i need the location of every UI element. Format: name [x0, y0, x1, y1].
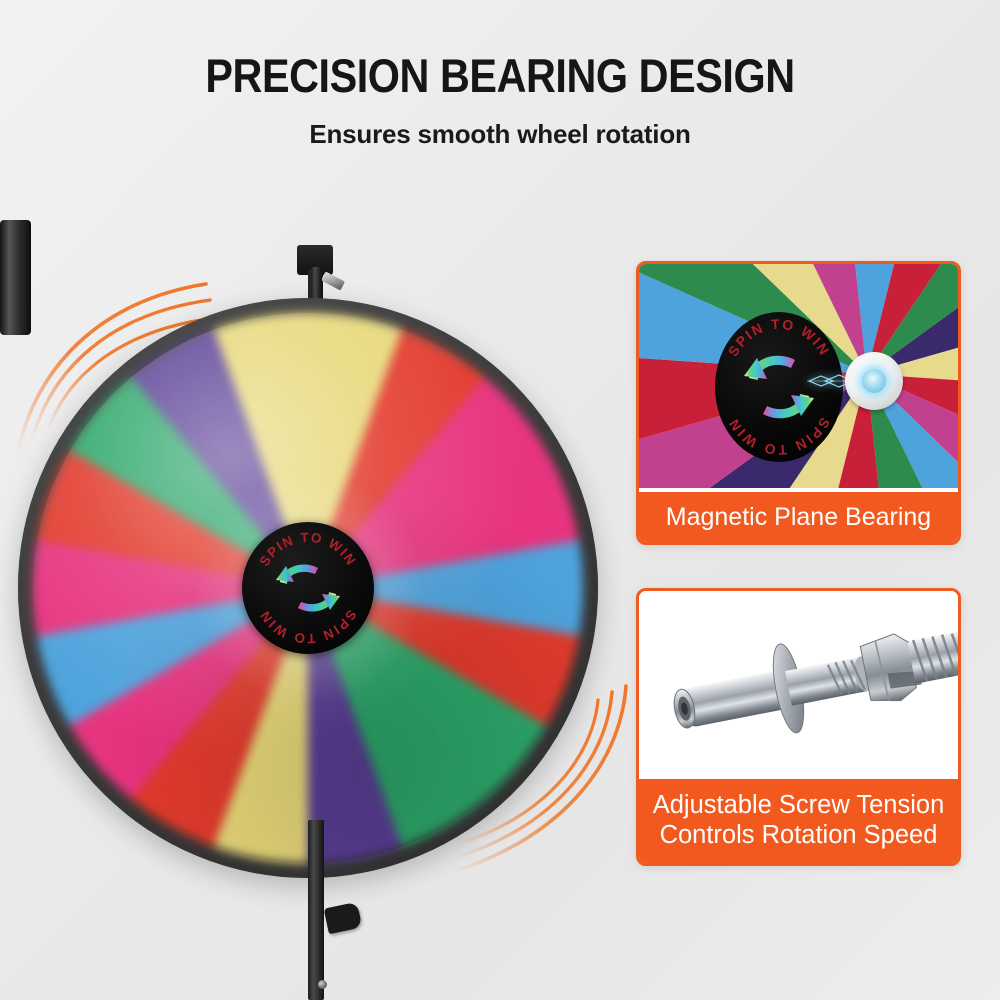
wheel-hub-label: SPIN TO WIN SPIN TO WIN — [242, 522, 374, 654]
white-magnetic-bearing-disc — [845, 352, 903, 410]
prize-wheel-scene: SPIN TO WIN SPIN TO WIN — [0, 220, 640, 1000]
pointer-metal-clip-icon — [321, 271, 345, 290]
hub-text-bottom: SPIN TO WIN — [257, 607, 360, 646]
bearing-hub-text-top: SPIN TO WIN — [725, 316, 834, 359]
lower-pole — [308, 820, 324, 1000]
hub-text-top: SPIN TO WIN — [257, 530, 360, 569]
page-title: PRECISION BEARING DESIGN — [60, 52, 940, 99]
page-subtitle: Ensures smooth wheel rotation — [0, 119, 1000, 150]
header: PRECISION BEARING DESIGN Ensures smooth … — [0, 0, 1000, 150]
adjustment-lever-clamp-icon[interactable] — [324, 902, 363, 935]
bearing-closeup-photo: SPIN TO WIN SPIN TO WIN — [639, 264, 958, 492]
prize-wheel[interactable]: SPIN TO WIN SPIN TO WIN — [18, 298, 598, 878]
hub-artwork: SPIN TO WIN SPIN TO WIN — [242, 522, 374, 654]
card-caption-screw-line-1: Adjustable Screw Tension — [647, 791, 951, 821]
bearing-recycle-arrows-icon — [744, 356, 814, 419]
card-caption-bearing: Magnetic Plane Bearing — [639, 492, 958, 542]
bearing-hub-text-bottom: SPIN TO WIN — [725, 415, 834, 458]
feature-card-adjustable-screw-tension: Adjustable Screw Tension Controls Rotati… — [636, 588, 961, 866]
screw-assembly-photo — [639, 591, 958, 779]
feature-card-magnetic-plane-bearing: SPIN TO WIN SPIN TO WIN — [636, 261, 961, 545]
card-caption-bearing-line-1: Magnetic Plane Bearing — [660, 503, 937, 532]
bolt-and-screw-icon — [639, 591, 958, 779]
clamp-screw-icon — [318, 980, 327, 989]
recycle-arrows-icon — [276, 564, 340, 611]
card-caption-screw-line-2: Controls Rotation Speed — [647, 821, 951, 851]
telescoping-pole-icon — [0, 220, 31, 335]
card-caption-screw: Adjustable Screw Tension Controls Rotati… — [639, 779, 958, 863]
